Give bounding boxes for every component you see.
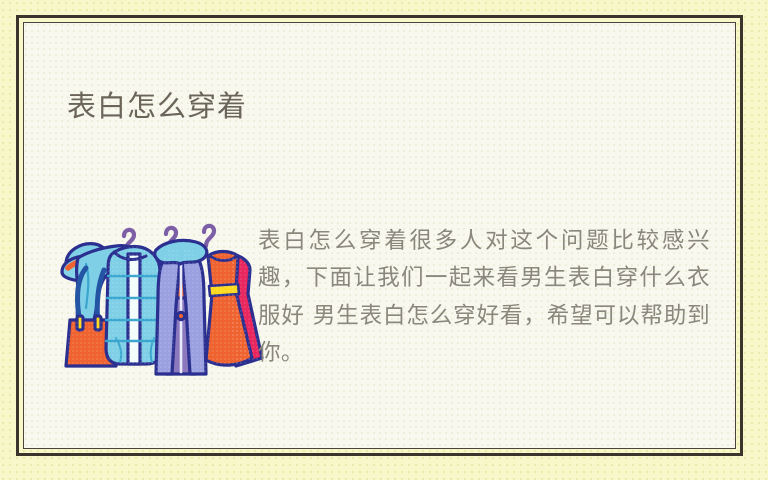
- clothing-rack-svg: [60, 198, 270, 398]
- trench-coat-icon: [155, 240, 207, 374]
- page-title: 表白怎么穿着: [67, 90, 247, 124]
- content-card: 表白怎么穿着: [23, 22, 736, 449]
- clothing-rack-illustration: [60, 198, 270, 398]
- page-background: 表白怎么穿着: [0, 0, 768, 480]
- puffer-jacket-icon: [106, 247, 162, 364]
- dress-icon: [206, 252, 262, 367]
- article-body: 表白怎么穿着很多人对这个问题比较感兴趣，下面让我们一起来看男生表白穿什么衣服好 …: [258, 223, 710, 373]
